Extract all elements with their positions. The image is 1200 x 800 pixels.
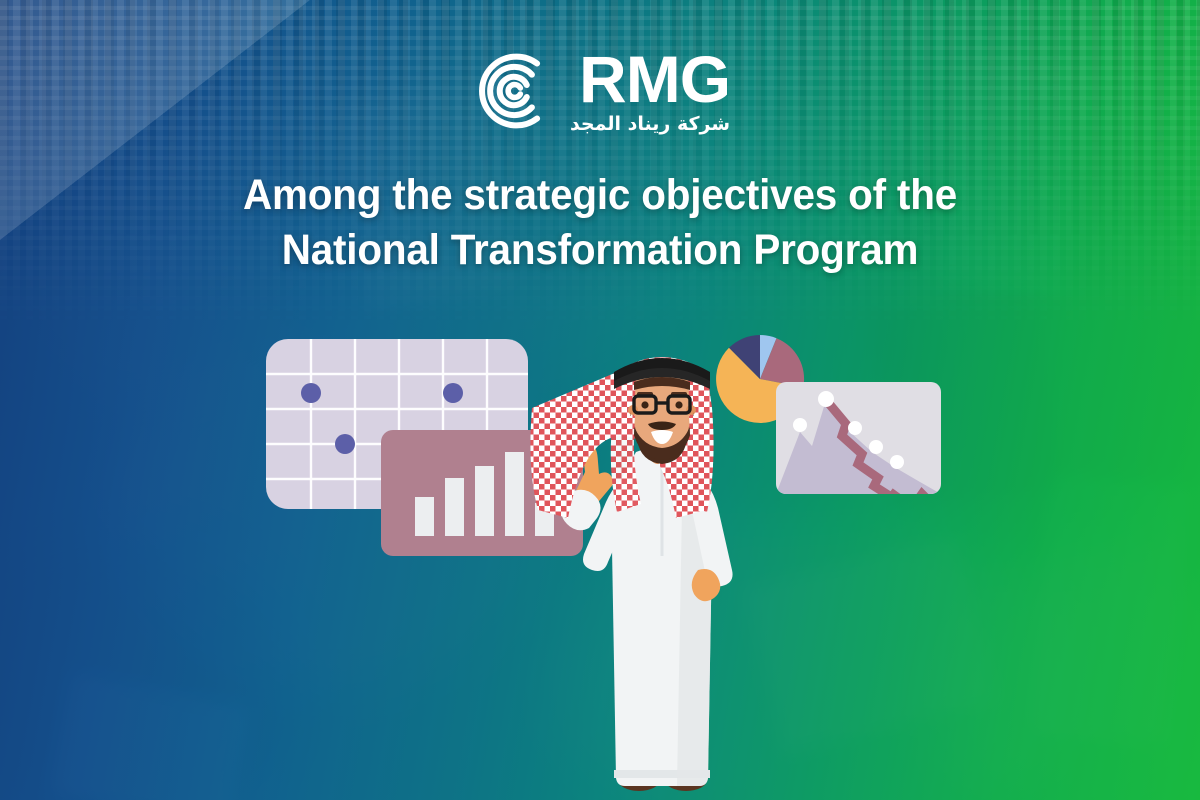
logo-arabic-name: شركة ريناد المجد (570, 113, 730, 135)
rmg-spiral-icon (470, 48, 556, 134)
brand-logo[interactable]: RMG شركة ريناد المجد (0, 48, 1200, 135)
headline-line-2: National Transformation Program (36, 223, 1164, 278)
promo-banner: RMG شركة ريناد المجد Among the strategic… (0, 0, 1200, 800)
line-chart-card (776, 382, 941, 508)
character-head (530, 357, 713, 518)
headline-line-1: Among the strategic objectives of the (243, 171, 957, 219)
logo-wordmark: RMG (579, 48, 730, 111)
headline: Among the strategic objectives of the Na… (36, 168, 1164, 277)
